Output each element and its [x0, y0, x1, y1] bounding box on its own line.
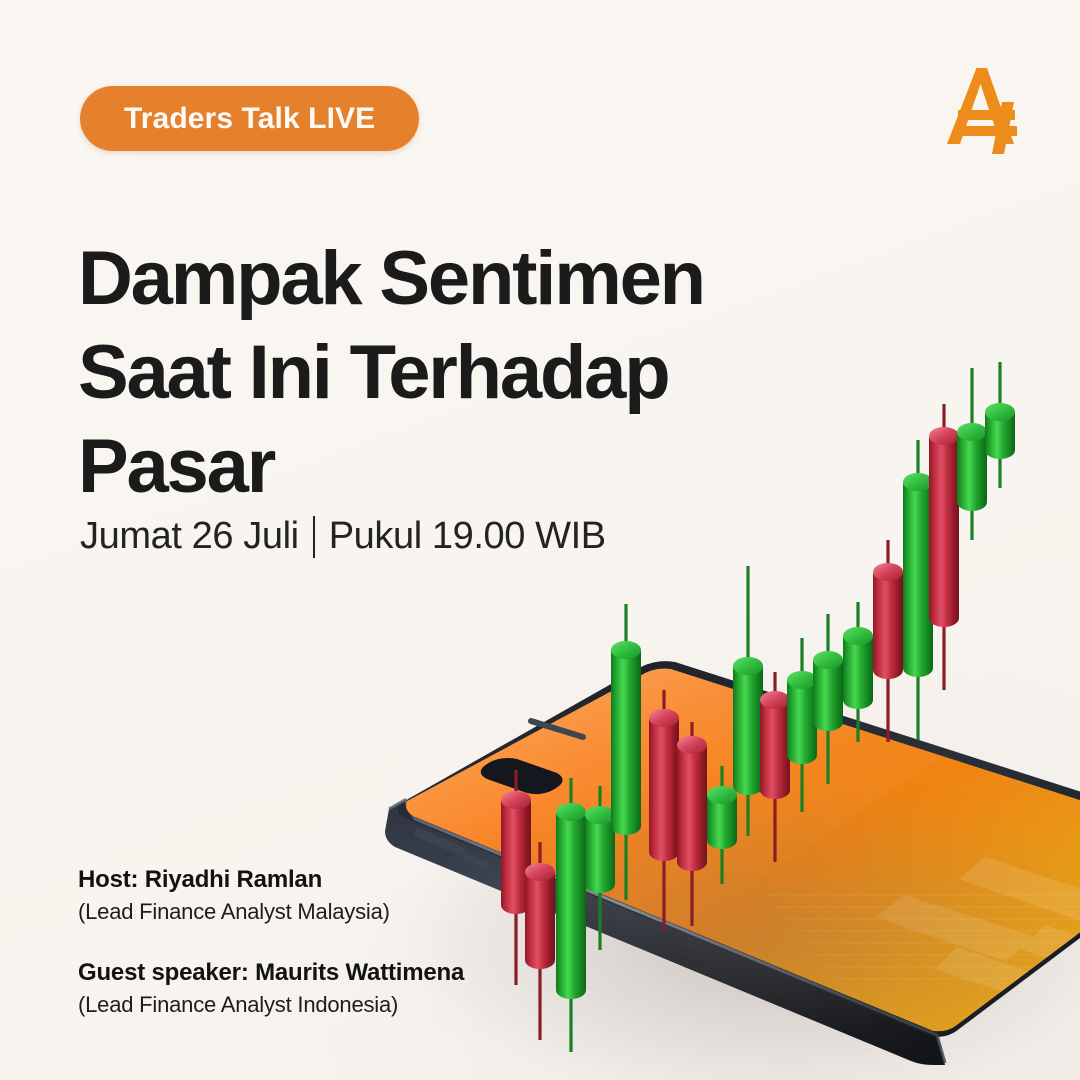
credit-guest-name: Guest speaker: Maurits Wattimena: [78, 959, 548, 987]
candle: [677, 722, 707, 926]
credit-guest-role: (Lead Finance Analyst Indonesia): [78, 992, 548, 1018]
credit-host-name: Host: Riyadhi Ramlan: [78, 866, 548, 894]
candle: [649, 690, 679, 930]
credit-guest: Guest speaker: Maurits Wattimena (Lead F…: [78, 959, 548, 1018]
candle: [760, 672, 790, 862]
candle: [707, 766, 737, 884]
candle: [611, 604, 641, 900]
credit-host-role: (Lead Finance Analyst Malaysia): [78, 899, 548, 925]
candle: [787, 638, 817, 812]
candle: [957, 368, 987, 540]
candle: [733, 566, 763, 836]
candle: [813, 614, 843, 784]
candle: [903, 440, 933, 740]
candle: [843, 602, 873, 742]
candle: [873, 540, 903, 742]
poster-canvas: Traders Talk LIVE Dampak Sentimen Saat I…: [0, 0, 1080, 1080]
candle: [985, 362, 1015, 488]
candle-layer: [501, 362, 1015, 1052]
candle: [556, 778, 586, 1052]
credit-host: Host: Riyadhi Ramlan (Lead Finance Analy…: [78, 866, 548, 925]
speaker-credits: Host: Riyadhi Ramlan (Lead Finance Analy…: [78, 866, 548, 1018]
candle: [585, 786, 615, 950]
candle: [929, 404, 959, 690]
